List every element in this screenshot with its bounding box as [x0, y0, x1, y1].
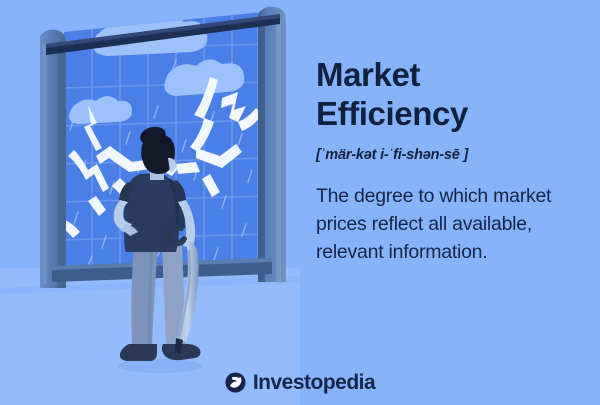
- term-text-column: Market Efficiency [ˈmär-kət i-ˈfi-shən-s…: [316, 56, 584, 266]
- page-title: Market Efficiency: [316, 56, 584, 133]
- investopedia-term-card: Market Efficiency [ˈmär-kət i-ˈfi-shən-s…: [0, 0, 600, 405]
- figure-shadow: [118, 359, 202, 373]
- left-pillar: [40, 30, 66, 288]
- pronunciation-text: [ˈmär-kət i-ˈfi-shən-sē ]: [316, 147, 584, 163]
- figure-shoe-left: [120, 344, 157, 361]
- investopedia-logo-icon: [225, 372, 246, 393]
- brand-lockup: Investopedia: [0, 372, 600, 393]
- brand-name: Investopedia: [253, 372, 375, 393]
- definition-text: The degree to which market prices reflec…: [316, 183, 584, 266]
- person-watching-storm-through-window-illustration: [0, 0, 300, 405]
- right-pillar: [258, 7, 286, 284]
